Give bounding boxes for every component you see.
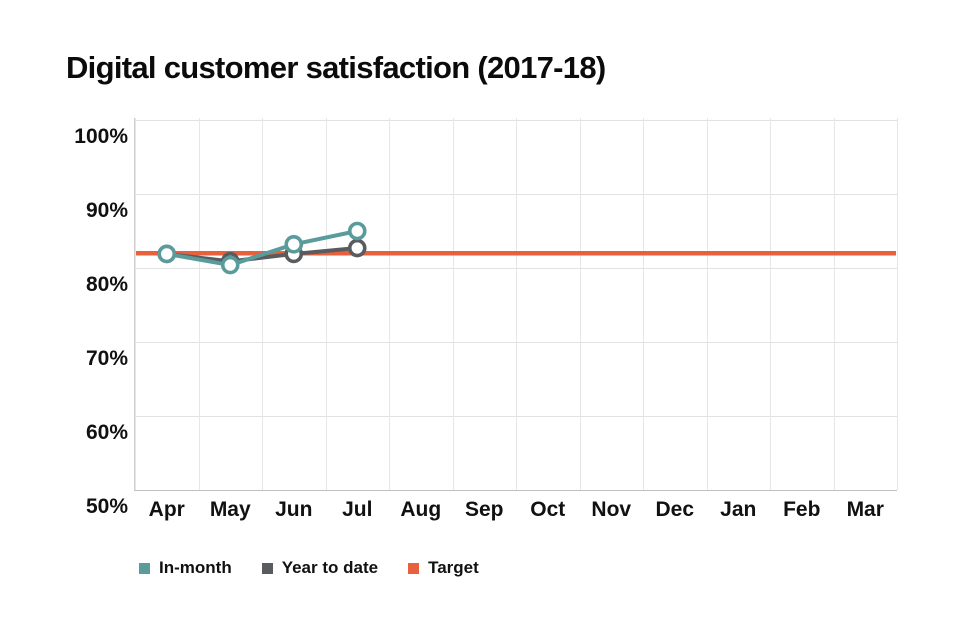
legend-swatch-icon xyxy=(408,563,419,574)
x-axis-tick-label: Feb xyxy=(770,498,834,522)
plot-area xyxy=(135,118,897,490)
legend-label: Target xyxy=(428,558,479,578)
legend-swatch-icon xyxy=(139,563,150,574)
x-axis-tick-label: Jun xyxy=(262,498,326,522)
legend-item[interactable]: Year to date xyxy=(262,558,378,578)
in-month-marker xyxy=(223,258,238,273)
x-axis-tick-label: May xyxy=(199,498,263,522)
y-axis-tick-label: 80% xyxy=(56,273,128,297)
x-axis-tick-label: Sep xyxy=(453,498,517,522)
legend-item[interactable]: In-month xyxy=(139,558,232,578)
in-month-marker xyxy=(350,224,365,239)
x-axis-tick-label: Nov xyxy=(580,498,644,522)
legend-label: In-month xyxy=(159,558,232,578)
year-to-date-marker xyxy=(350,241,365,256)
x-axis-tick-label: Aug xyxy=(389,498,453,522)
y-axis-tick-label: 50% xyxy=(56,495,128,519)
in-month-series xyxy=(159,224,365,273)
legend-swatch-icon xyxy=(262,563,273,574)
page-title: Digital customer satisfaction (2017-18) xyxy=(66,50,606,86)
y-axis-tick-label: 100% xyxy=(56,125,128,149)
x-axis-line xyxy=(135,490,897,491)
y-axis-tick-label: 70% xyxy=(56,347,128,371)
gridline-vertical xyxy=(897,118,898,490)
chart-page: Digital customer satisfaction (2017-18) … xyxy=(0,0,960,640)
y-axis-tick-label: 60% xyxy=(56,421,128,445)
x-axis-tick-label: Oct xyxy=(516,498,580,522)
x-axis-tick-label: Mar xyxy=(834,498,898,522)
y-axis-tick-label: 90% xyxy=(56,199,128,223)
x-axis-tick-label: Dec xyxy=(643,498,707,522)
x-axis-tick-label: Jul xyxy=(326,498,390,522)
series-layer xyxy=(135,118,897,490)
x-axis-tick-label: Apr xyxy=(135,498,199,522)
in-month-marker xyxy=(159,246,174,261)
legend-label: Year to date xyxy=(282,558,378,578)
series-line xyxy=(167,231,358,265)
in-month-marker xyxy=(286,237,301,252)
legend-item[interactable]: Target xyxy=(408,558,479,578)
x-axis-tick-label: Jan xyxy=(707,498,771,522)
chart-legend: In-monthYear to dateTarget xyxy=(139,558,479,578)
